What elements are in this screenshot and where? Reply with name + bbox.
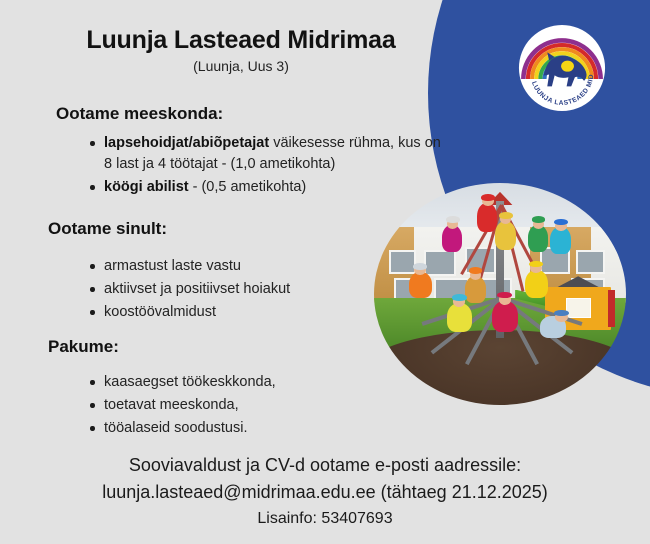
contact-footer: Sooviavaldust ja CV-d ootame e-posti aad… — [0, 452, 650, 532]
footer-line-email: luunja.lasteaed@midrimaa.edu.ee (tähtaeg… — [0, 479, 650, 506]
list-expectations: armastust laste vastu aktiivset ja posit… — [88, 256, 388, 325]
kindergarten-logo: LUUNJA LASTEAED MIDRIMAA — [516, 22, 608, 114]
list-offer: kaasaegset töökeskkonda, toetavat meesko… — [88, 372, 388, 441]
list-item: toetavat meeskonda, — [88, 395, 388, 416]
list-item: armastust laste vastu — [88, 256, 388, 277]
list-item: koostöövalmidust — [88, 302, 388, 323]
page-title: Luunja Lasteaed Midrimaa — [0, 26, 482, 55]
section-heading-team: Ootame meeskonda: — [56, 104, 223, 124]
footer-line-instruction: Sooviavaldust ja CV-d ootame e-posti aad… — [0, 452, 650, 479]
list-item: kaasaegset töökeskkonda, — [88, 372, 388, 393]
job-posting-poster: LUUNJA LASTEAED MIDRIMAA Luunja Lasteaed… — [0, 0, 650, 544]
list-item: lapsehoidjat/abiõpetajat väikesesse rühm… — [88, 133, 450, 175]
list-item-text: koostöövalmidust — [104, 304, 216, 320]
list-item-text: kaasaegset töökeskkonda, — [104, 374, 276, 390]
list-item-text: toetavat meeskonda, — [104, 397, 239, 413]
list-item-text: aktiivset ja positiivset hoiakut — [104, 281, 290, 297]
list-item-text: armastust laste vastu — [104, 258, 241, 274]
list-item-text: tööalaseid soodustusi. — [104, 420, 248, 436]
list-item-text: - (0,5 ametikohta) — [189, 179, 307, 195]
section-heading-expectations: Ootame sinult: — [48, 219, 167, 239]
list-item-bold: lapsehoidjat/abiõpetajat — [104, 135, 269, 151]
list-team: lapsehoidjat/abiõpetajat väikesesse rühm… — [88, 133, 450, 200]
list-item: köögi abilist - (0,5 ametikohta) — [88, 177, 450, 198]
list-item-bold: köögi abilist — [104, 179, 189, 195]
section-heading-offer: Pakume: — [48, 337, 119, 357]
footer-line-phone: Lisainfo: 53407693 — [0, 506, 650, 532]
list-item: tööalaseid soodustusi. — [88, 418, 388, 439]
staff-photo — [374, 183, 626, 405]
page-subtitle: (Luunja, Uus 3) — [0, 58, 482, 74]
list-item: aktiivset ja positiivset hoiakut — [88, 279, 388, 300]
